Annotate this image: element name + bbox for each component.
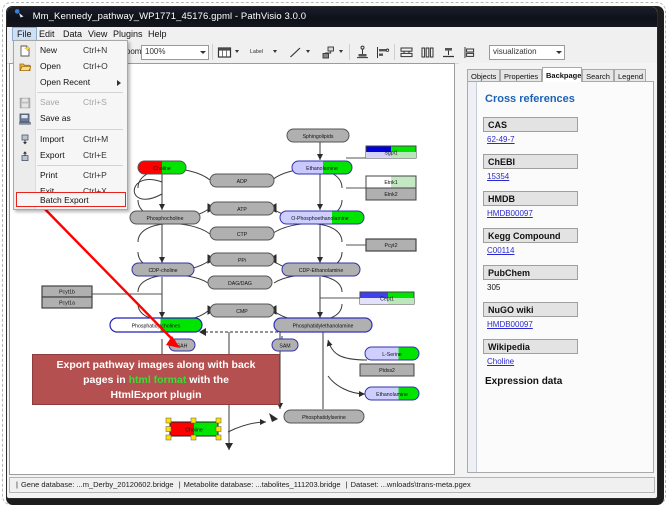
status-metabolite-db-value: ...tabolites_111203.bridge	[255, 480, 340, 489]
menu-item-export-shortcut: Ctrl+E	[83, 150, 107, 160]
svg-text:Ethanolamine: Ethanolamine	[376, 392, 408, 398]
menu-view[interactable]: View	[84, 28, 111, 40]
align-left-button[interactable]	[375, 45, 390, 60]
xref-link-wikipedia[interactable]: Choline	[487, 357, 647, 366]
save-disk-icon	[19, 97, 31, 109]
status-bar: |Gene database: ...m_Derby_20120602.brid…	[9, 477, 655, 493]
menu-plugins[interactable]: Plugins	[109, 28, 147, 40]
shape-dropdown-icon[interactable]	[339, 50, 343, 53]
menu-item-new[interactable]: New Ctrl+N	[15, 43, 126, 58]
node-sphingolipids: Sphingolipids	[287, 129, 349, 142]
xref-link-hmdb[interactable]: HMDB00097	[487, 209, 647, 218]
status-separator: |	[346, 480, 348, 489]
svg-text:SAH: SAH	[177, 344, 188, 350]
status-metabolite-db-label: Metabolite database:	[184, 480, 254, 489]
node-ethanolamine-bottom: Ethanolamine	[365, 387, 419, 400]
xref-value-pubchem: 305	[487, 283, 647, 292]
menu-item-open[interactable]: Open Ctrl+O	[15, 59, 126, 74]
backpage-scrollbar[interactable]	[468, 82, 477, 472]
svg-text:Sphingolipids: Sphingolipids	[303, 134, 334, 140]
window-title: Mm_Kennedy_pathway_WP1771_45176.gpml - P…	[33, 11, 307, 22]
align-bottom-button[interactable]	[441, 45, 456, 60]
svg-text:Choline: Choline	[153, 166, 171, 172]
common-width-button[interactable]	[462, 45, 477, 60]
svg-text:O-Phosphoethanolamine: O-Phosphoethanolamine	[291, 216, 349, 222]
svg-text:CMP: CMP	[236, 309, 248, 315]
gene-pcyt2: Pcyt2	[366, 239, 416, 251]
status-dataset-value: ...wnloads\trans-meta.pgex	[381, 480, 471, 489]
callout-line2-suffix: with the	[186, 374, 229, 386]
menu-item-export[interactable]: Export Ctrl+E	[15, 148, 126, 163]
xref-header-cas: CAS	[483, 117, 578, 132]
open-folder-icon	[19, 61, 31, 73]
expression-data-title: Expression data	[485, 376, 647, 387]
pathvisio-app-icon	[14, 7, 25, 27]
import-icon	[19, 134, 31, 146]
annotation-callout: Export pathway images along with back pa…	[32, 354, 280, 405]
xref-header-chebi: ChEBI	[483, 154, 578, 169]
svg-text:Cept1: Cept1	[380, 297, 394, 303]
node-phosphatidylserine: Phosphatidylserine	[284, 410, 364, 423]
menu-file[interactable]: File	[12, 27, 37, 41]
menu-item-export-label: Export	[40, 150, 65, 160]
node-phosphatidylethanolamine: Phosphatidylethanolamine	[274, 318, 372, 332]
xref-link-cas[interactable]: 62-49-7	[487, 135, 647, 144]
svg-text:Pcyt1b: Pcyt1b	[59, 290, 75, 296]
zoom-value: 100%	[145, 47, 165, 56]
menu-separator	[37, 129, 123, 130]
node-choline-top: Choline	[138, 161, 186, 174]
node-cdp-choline: CDP-choline	[132, 263, 194, 276]
node-ethanolamine-top: Ethanolamine	[292, 161, 352, 174]
pathvisio-window: Mm_Kennedy_pathway_WP1771_45176.gpml - P…	[6, 6, 658, 499]
menu-item-batch-export-label: Batch Export	[40, 195, 89, 205]
line-tool-button[interactable]	[288, 45, 303, 60]
menu-item-import-shortcut: Ctrl+M	[83, 134, 108, 144]
datanode-tool-button[interactable]	[217, 45, 232, 60]
xref-header-nugo: NuGO wiki	[483, 302, 578, 317]
node-dag: DAG/DAG	[208, 276, 272, 289]
right-sidebar: Objects Properties Backpage Search Legen…	[459, 63, 657, 475]
svg-text:ADP: ADP	[237, 179, 248, 185]
shape-tool-button[interactable]	[321, 45, 336, 60]
node-cmp: CMP	[210, 304, 274, 317]
svg-text:L-Serine: L-Serine	[382, 352, 402, 358]
gene-etnk1: Etnk1	[366, 176, 416, 188]
menu-item-save-as[interactable]: Save as	[15, 111, 126, 126]
menu-item-import[interactable]: Import Ctrl+M	[15, 132, 126, 147]
svg-text:CDP-Ethanolamine: CDP-Ethanolamine	[299, 268, 344, 274]
svg-text:Etnk2: Etnk2	[384, 192, 397, 198]
svg-text:Sgpl1: Sgpl1	[384, 151, 397, 157]
xref-link-nugo[interactable]: HMDB00097	[487, 320, 647, 329]
menu-item-print-shortcut: Ctrl+P	[83, 170, 107, 180]
callout-line-1: Export pathway images along with back	[33, 358, 279, 373]
backpage-panel: Cross references CAS 62-49-7 ChEBI 15354…	[467, 81, 654, 473]
menu-separator	[37, 92, 123, 93]
svg-text:SAM: SAM	[279, 344, 290, 350]
svg-text:Phosphatidylcholines: Phosphatidylcholines	[132, 324, 181, 330]
title-bar: Mm_Kennedy_pathway_WP1771_45176.gpml - P…	[7, 7, 657, 27]
status-gene-db-label: Gene database:	[21, 480, 74, 489]
callout-line2-prefix: pages in	[83, 374, 129, 386]
backpage-content: Cross references CAS 62-49-7 ChEBI 15354…	[477, 82, 653, 472]
node-o-phosphoethanolamine: O-Phosphoethanolamine	[280, 211, 364, 224]
svg-text:Phosphocholine: Phosphocholine	[147, 216, 184, 222]
datanode-dropdown-icon[interactable]	[235, 50, 239, 53]
screenshot-root: Mm_Kennedy_pathway_WP1771_45176.gpml - P…	[0, 0, 670, 509]
node-adp: ADP	[210, 174, 274, 187]
gene-pcyt1a: Pcyt1a	[42, 297, 92, 308]
new-document-icon	[19, 45, 31, 57]
menu-item-new-shortcut: Ctrl+N	[83, 45, 107, 55]
label-dropdown-icon[interactable]	[273, 50, 277, 53]
tab-backpage[interactable]: Backpage	[542, 67, 582, 82]
node-sam: SAM	[272, 339, 298, 351]
status-gene-db-value: ...m_Derby_20120602.bridge	[76, 480, 173, 489]
menu-item-print-label: Print	[40, 170, 57, 180]
line-dropdown-icon[interactable]	[306, 50, 310, 53]
svg-text:Phosphatidylserine: Phosphatidylserine	[302, 415, 346, 421]
chevron-down-icon	[556, 51, 562, 54]
submenu-arrow-icon	[117, 80, 121, 86]
node-cdp-ethanolamine: CDP-Ethanolamine	[282, 263, 360, 276]
node-phosphatidylcholines: Phosphatidylcholines	[110, 318, 202, 332]
menu-item-print[interactable]: Print Ctrl+P	[15, 168, 126, 183]
status-separator: |	[16, 480, 18, 489]
svg-text:Pcyt2: Pcyt2	[385, 243, 398, 249]
menu-item-new-label: New	[40, 45, 57, 55]
svg-text:Pcyt1a: Pcyt1a	[59, 301, 75, 307]
stack-button[interactable]	[399, 45, 414, 60]
visualization-value: visualization	[493, 47, 537, 56]
xref-link-kegg[interactable]: C00114	[487, 246, 647, 255]
export-icon	[19, 150, 31, 162]
zoom-combo[interactable]: 100%	[141, 45, 209, 60]
gene-ptdss2: Ptdss2	[360, 364, 414, 376]
toolbar-separator	[212, 44, 213, 60]
status-dataset-label: Dataset:	[351, 480, 379, 489]
node-choline-bottom-selected: Choline	[166, 418, 221, 440]
menu-item-import-label: Import	[40, 134, 64, 144]
menu-item-open-recent[interactable]: Open Recent	[15, 75, 126, 90]
svg-text:Phosphatidylethanolamine: Phosphatidylethanolamine	[293, 324, 354, 330]
svg-text:Ptdss2: Ptdss2	[379, 368, 395, 374]
node-ctp: CTP	[210, 227, 274, 240]
sidebar-tab-strip: Objects Properties Backpage Search Legen…	[467, 67, 657, 82]
menu-data[interactable]: Data	[59, 28, 86, 40]
menu-item-open-recent-label: Open Recent	[40, 77, 90, 87]
node-sah: SAH	[169, 339, 195, 351]
svg-text:DAG/DAG: DAG/DAG	[228, 281, 252, 287]
menu-item-open-shortcut: Ctrl+O	[83, 61, 108, 71]
menu-separator	[37, 165, 123, 166]
svg-text:Ethanolamine: Ethanolamine	[306, 166, 338, 172]
gene-pcyt1b: Pcyt1b	[42, 286, 92, 297]
gene-sgpl1: Sgpl1	[366, 146, 416, 158]
align-top-button[interactable]	[355, 45, 370, 60]
node-l-serine: L-Serine	[365, 347, 419, 360]
svg-text:ATP: ATP	[237, 207, 247, 213]
node-ppi: PPi	[210, 253, 274, 266]
chevron-down-icon	[200, 51, 206, 54]
callout-line-3: HtmlExport plugin	[33, 388, 279, 403]
xref-link-chebi[interactable]: 15354	[487, 172, 647, 181]
svg-text:PPi: PPi	[238, 258, 246, 264]
toolbar-separator	[394, 44, 395, 60]
node-atp: ATP	[210, 202, 274, 215]
distribute-button[interactable]	[420, 45, 435, 60]
gene-cept1: Cept1	[360, 292, 414, 304]
node-phosphocholine: Phosphocholine	[130, 211, 200, 224]
xref-header-pubchem: PubChem	[483, 265, 578, 280]
visualization-combo[interactable]: visualization	[489, 45, 565, 60]
callout-line-2: pages in html format with the	[33, 373, 279, 388]
xref-header-hmdb: HMDB	[483, 191, 578, 206]
xref-header-wikipedia: Wikipedia	[483, 339, 578, 354]
svg-text:Etnk1: Etnk1	[384, 180, 397, 186]
xref-header-kegg: Kegg Compound	[483, 228, 578, 243]
svg-text:CDP-choline: CDP-choline	[148, 268, 177, 274]
cross-references-title: Cross references	[485, 93, 647, 105]
status-separator: |	[179, 480, 181, 489]
save-as-icon	[19, 113, 31, 125]
menu-item-batch-export[interactable]: Batch Export	[16, 192, 126, 207]
callout-highlight: html format	[129, 374, 187, 386]
toolbar-separator	[349, 44, 350, 60]
menu-edit[interactable]: Edit	[35, 28, 59, 40]
menu-item-save-label: Save	[40, 97, 59, 107]
menu-item-save-as-label: Save as	[40, 113, 71, 123]
svg-text:CTP: CTP	[237, 232, 248, 238]
gene-etnk2: Etnk2	[366, 188, 416, 200]
label-tool-button[interactable]: Label	[250, 49, 263, 55]
menu-item-save-shortcut: Ctrl+S	[83, 97, 107, 107]
menu-item-save[interactable]: Save Ctrl+S	[15, 95, 126, 110]
file-dropdown-menu[interactable]: New Ctrl+N Open Ctrl+O Open Recent	[13, 40, 128, 210]
menu-help[interactable]: Help	[144, 28, 171, 40]
menu-item-open-label: Open	[40, 61, 61, 71]
svg-text:Choline: Choline	[185, 428, 203, 434]
